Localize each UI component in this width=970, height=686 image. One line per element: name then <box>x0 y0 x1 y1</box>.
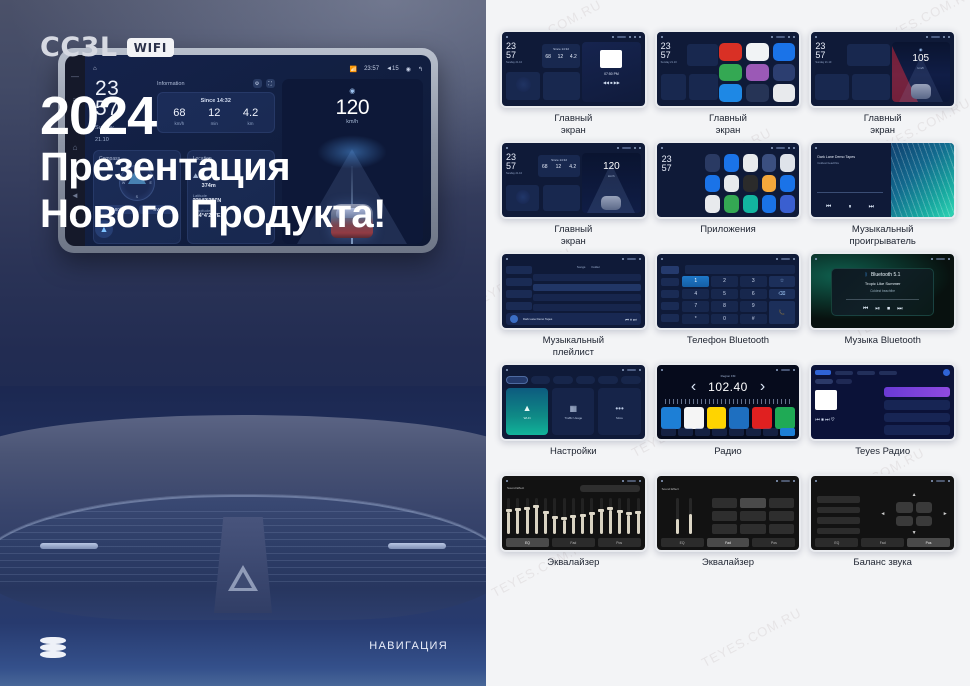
balance-preset-row[interactable] <box>817 528 860 535</box>
eq-band[interactable] <box>507 498 510 534</box>
side-key-minus[interactable]: — <box>71 73 79 81</box>
grid-item[interactable]: ᛒ Bluetooth 5.1 Tropic Like Summer Colde… <box>809 252 956 359</box>
balance-preset-row[interactable] <box>817 496 860 503</box>
mini-player[interactable]: Dark Lane Demo Tapes ⏮ ⏸ ⏭ <box>506 313 641 325</box>
eq-band[interactable] <box>572 498 575 534</box>
home-left-column: 2357 Sunday 21.10 Since 14:32 68124.2 <box>506 153 580 213</box>
information-header: Information ⚙ ⛶ <box>157 79 275 88</box>
settings-tab-security[interactable] <box>598 376 618 384</box>
settings-tab-sound[interactable] <box>531 376 551 384</box>
settings-card-label: Traffic Usage <box>564 416 582 420</box>
settings-tab-about[interactable] <box>621 376 641 384</box>
teyes-radio-player: ⏮ ⏹ ⏭ ♡ <box>815 379 883 435</box>
settings-card-wifi[interactable]: ▲ Wi-Fi <box>506 388 548 435</box>
eq-band[interactable] <box>526 498 529 534</box>
screenshot-grid-panel: TEYES.COM.RU TEYES.COM.RU TEYES.COM.RU T… <box>486 0 970 686</box>
bt-track: Tropic Like Summer <box>865 281 901 286</box>
settings-card-label: Wi-Fi <box>524 416 531 420</box>
settings-tab-system[interactable] <box>576 376 596 384</box>
grid-item[interactable]: 23 57 Sunday 21.10 Since 14:32 68124.2 <box>500 30 647 137</box>
thumbnail-radio[interactable]: Region FM ‹ 102.40 › <box>655 363 802 441</box>
teyes-radio-topbar[interactable] <box>815 369 950 376</box>
app-icon[interactable] <box>762 154 777 172</box>
thumbnail-caption: Музыка Bluetooth <box>844 335 920 359</box>
thumbnail-bt-music[interactable]: ᛒ Bluetooth 5.1 Tropic Like Summer Colde… <box>809 252 956 330</box>
thumbnail-caption: Баланс звука <box>853 557 912 581</box>
radio-list-row[interactable] <box>884 413 950 423</box>
toolbar-button[interactable] <box>712 428 727 436</box>
hero-year: 2024 <box>40 88 386 144</box>
home-left-column: 2357 Sunday 21.10 <box>815 42 889 102</box>
vent-knob-right <box>388 543 446 549</box>
bt-progress[interactable] <box>846 299 919 300</box>
app-icon[interactable] <box>773 64 796 82</box>
information-title: Information <box>157 81 185 87</box>
seat-front-left[interactable] <box>896 502 912 513</box>
status-time: 23:57 <box>364 66 379 72</box>
grid-item[interactable]: 2357 <box>655 141 802 248</box>
grid-item[interactable]: Sound Effect <box>500 474 647 581</box>
thumbnail-caption: Главныйэкран <box>554 113 592 137</box>
app-drawer-grid[interactable] <box>705 154 795 213</box>
bt-music-card: ᛒ Bluetooth 5.1 Tropic Like Summer Colde… <box>831 268 934 316</box>
thumbnail-home-media[interactable]: 23 57 Sunday 21.10 Since 14:32 68124.2 <box>500 30 647 108</box>
balance-up-icon[interactable]: ▲ <box>912 492 917 498</box>
toolbar-button[interactable] <box>661 428 676 436</box>
fader-slider[interactable] <box>676 498 679 534</box>
wifi-icon: 📶 <box>350 66 357 73</box>
preset-key[interactable] <box>712 524 738 534</box>
eq-tab[interactable]: Pos <box>907 538 950 547</box>
eq-band[interactable] <box>535 498 538 534</box>
home-left-column: 23 57 Sunday 21.10 Since 14:32 68124.2 <box>506 42 580 102</box>
home-app-grid[interactable] <box>719 43 795 102</box>
home-location-card <box>543 72 580 100</box>
progress-bar[interactable] <box>817 192 882 193</box>
dial-key[interactable]: 8 <box>711 301 738 312</box>
eq-tab[interactable]: Fad <box>552 538 595 547</box>
radio-presets[interactable] <box>661 407 796 429</box>
dial-key[interactable]: 9 <box>740 301 767 312</box>
playlist-row[interactable] <box>533 304 640 311</box>
hazard-button <box>214 517 272 613</box>
eq-tab-bar[interactable]: EQ Fad Pos <box>506 538 641 547</box>
thumbnail-caption: Эквалайзер <box>547 557 599 581</box>
app-icon[interactable] <box>773 43 796 61</box>
radio-preset[interactable] <box>729 407 749 429</box>
previous-icon[interactable]: ⏮ <box>863 306 868 313</box>
thumbnail-caption: Teyes Радио <box>855 446 910 470</box>
settings-icon[interactable]: ⚙ <box>253 79 262 88</box>
thumbnail-settings[interactable]: ▲ Wi-Fi ▦ Traffic Usage ••• More <box>500 363 647 441</box>
phone-number-field[interactable] <box>685 265 795 274</box>
radio-list-row[interactable] <box>884 387 950 397</box>
dial-key[interactable]: # <box>740 314 767 325</box>
radio-preset[interactable] <box>707 407 727 429</box>
dial-key[interactable]: 4 <box>682 289 709 300</box>
page-title: 2024 Презентация Нового Продукта! <box>40 88 386 237</box>
app-icon[interactable] <box>780 154 795 172</box>
vent-knob-left <box>40 543 98 549</box>
next-icon[interactable]: ⏭ <box>897 306 902 313</box>
preset-key[interactable] <box>769 511 795 521</box>
app-icon[interactable] <box>719 84 742 102</box>
grid-item[interactable]: 1 2 3 ☆ 4 5 6 ⌫ 7 8 9 📞 * 0 # <box>655 252 802 359</box>
thumbnail-caption: Главныйэкран <box>864 113 902 137</box>
grid-item[interactable]: Dark Lane Demo Tapes Coldest beachfire ⏮… <box>809 141 956 248</box>
thumbnail-caption: Главныйэкран <box>554 224 592 248</box>
settings-card-more[interactable]: ••• More <box>598 388 640 435</box>
thumbnail-home-drive[interactable]: 2357 Sunday 21.10 ◉ 105 km/h <box>809 30 956 108</box>
app-icon[interactable] <box>705 175 720 193</box>
app-icon[interactable] <box>719 43 742 61</box>
app-icon[interactable] <box>724 154 739 172</box>
music-track-info: Dark Lane Demo Tapes Coldest beachfire <box>817 155 885 165</box>
radio-preset[interactable] <box>684 407 704 429</box>
phone-tab-contacts[interactable] <box>661 278 680 286</box>
presentation-slide: CC3L WIFI 2024 Презентация Нового Продук… <box>0 0 970 686</box>
balance-preset-list[interactable] <box>817 496 860 534</box>
preset-key[interactable] <box>740 511 766 521</box>
dial-key[interactable]: 5 <box>711 289 738 300</box>
playlist-row[interactable] <box>533 284 640 291</box>
thumbnail-caption: Музыкальныйплейлист <box>543 335 604 359</box>
next-icon[interactable]: ⏭ <box>869 204 874 211</box>
brand-badge-wifi: WIFI <box>127 38 175 57</box>
dial-key[interactable]: 1 <box>682 276 709 287</box>
thumbnail-caption: Приложения <box>700 224 756 248</box>
favorite-icon[interactable]: ☆ <box>769 276 796 287</box>
radio-tuner[interactable]: ‹ 102.40 › <box>661 376 796 398</box>
eq-band[interactable] <box>516 498 519 534</box>
layers-icon <box>40 636 66 658</box>
eq-band[interactable] <box>600 498 603 534</box>
home-info-card: Since 14:32 68124.2 <box>542 44 580 68</box>
back-arrow-icon[interactable]: ↰ <box>418 66 423 73</box>
playlist-nav-item[interactable] <box>506 266 532 274</box>
seat-front-right[interactable] <box>916 502 932 513</box>
playback-controls[interactable]: ⏮ ⏸ ⏭ <box>817 204 882 211</box>
previous-icon[interactable]: ⏮ <box>826 204 831 211</box>
thumbnail-caption: Настройки <box>550 446 597 470</box>
thumbnail-bt-phone[interactable]: 1 2 3 ☆ 4 5 6 ⌫ 7 8 9 📞 * 0 # <box>655 252 802 330</box>
playlist-row[interactable] <box>533 274 640 281</box>
apps-clock: 2357 <box>662 155 672 172</box>
app-icon[interactable] <box>762 175 777 193</box>
status-bar: ⌂ 📶 23:57 ◄15 ◉ ↰ <box>93 63 423 75</box>
play-pause-icon[interactable]: ⏯ <box>875 306 880 313</box>
hero-panel: CC3L WIFI 2024 Презентация Нового Продук… <box>0 0 486 686</box>
app-icon[interactable] <box>746 43 769 61</box>
grid-item[interactable]: 23 57 Sunday 21.10 <box>655 30 802 137</box>
call-icon[interactable]: 📞 <box>769 301 796 324</box>
camera-icon[interactable]: ◉ <box>406 66 411 73</box>
phone-tab-dialpad[interactable] <box>661 266 680 274</box>
dial-key[interactable]: 3 <box>740 276 767 287</box>
eq-band[interactable] <box>618 498 621 534</box>
hazard-triangle-inner-icon <box>234 572 252 588</box>
eq-band[interactable] <box>581 498 584 534</box>
prev-station-icon[interactable]: ‹ <box>691 378 696 396</box>
dial-key[interactable]: 7 <box>682 301 709 312</box>
bt-artist: Coldest beachfire <box>870 289 895 293</box>
eq-band[interactable] <box>553 498 556 534</box>
app-icon[interactable] <box>746 84 769 102</box>
grid-item[interactable]: ▲ ▼ ◄ ► EQ Fad Pos Баланс звука <box>809 474 956 581</box>
app-icon[interactable] <box>719 64 742 82</box>
hero-title-line2: Нового Продукта! <box>40 191 386 237</box>
footer-navigation-label: НАВИГАЦИЯ <box>369 640 448 652</box>
grid-item[interactable]: 2357 Sunday 21.10 ◉ 105 km/h <box>809 30 956 137</box>
bt-title: Bluetooth 5.1 <box>871 272 900 278</box>
watermark: TEYES.COM.RU <box>699 605 804 670</box>
brand-name: CC3L <box>40 32 118 63</box>
phone-tab-search[interactable] <box>661 290 680 298</box>
tab-songs[interactable]: Songs <box>577 265 586 270</box>
radio-preset[interactable] <box>752 407 772 429</box>
settings-tab-wlan[interactable] <box>506 376 528 384</box>
dial-key[interactable]: 0 <box>711 314 738 325</box>
thumbnail-grid: 23 57 Sunday 21.10 Since 14:32 68124.2 <box>500 30 956 581</box>
settings-tab-display[interactable] <box>553 376 573 384</box>
toolbar-button[interactable] <box>780 428 795 436</box>
equalizer-bands[interactable] <box>507 498 640 534</box>
tab-folders[interactable]: Folder <box>591 265 600 270</box>
thumbnail-equalizer-fader[interactable]: Sound Effect <box>655 474 802 552</box>
eq-tab[interactable]: EQ <box>815 538 858 547</box>
settings-card-label: More <box>616 416 623 420</box>
playlist-nav-item[interactable] <box>506 278 532 286</box>
teyes-radio-list[interactable] <box>884 387 950 435</box>
toolbar-button[interactable] <box>729 428 744 436</box>
thumbnail-equalizer[interactable]: Sound Effect <box>500 474 647 552</box>
dial-key[interactable]: 2 <box>711 276 738 287</box>
app-icon[interactable] <box>743 195 758 213</box>
expand-icon[interactable]: ⛶ <box>266 79 275 88</box>
app-icon[interactable] <box>743 175 758 193</box>
home-compass-card <box>506 72 540 100</box>
eq-band[interactable] <box>627 498 630 534</box>
thumbnail-caption: Эквалайзер <box>702 557 754 581</box>
eq-band[interactable] <box>609 498 612 534</box>
thumbnail-caption: Телефон Bluetooth <box>687 335 769 359</box>
toolbar-button[interactable] <box>763 428 778 436</box>
eq-tab-bar[interactable]: EQ Fad Pos <box>815 538 950 547</box>
toolbar-button[interactable] <box>746 428 761 436</box>
next-station-icon[interactable]: › <box>760 378 765 396</box>
more-icon: ••• <box>615 404 623 413</box>
radio-preset[interactable] <box>661 407 681 429</box>
balance-pad[interactable]: ▲ ▼ ◄ ► <box>888 494 939 534</box>
stop-icon[interactable]: ⏹ <box>887 306 890 313</box>
playlist-row[interactable] <box>533 294 640 301</box>
eq-band[interactable] <box>544 498 547 534</box>
app-icon[interactable] <box>743 154 758 172</box>
hero-footer: НАВИГАЦИЯ <box>0 616 486 686</box>
toolbar-button[interactable] <box>695 428 710 436</box>
playlist-nav-item[interactable] <box>506 302 532 310</box>
eq-tab[interactable]: Pos <box>752 538 795 547</box>
bluetooth-icon: ᛒ <box>865 272 868 278</box>
hero-title-line1: Презентация <box>40 144 386 190</box>
app-icon[interactable] <box>705 195 720 213</box>
preset-key[interactable] <box>769 498 795 508</box>
music-visual-wave <box>891 143 954 217</box>
chart-icon: ▦ <box>570 404 578 413</box>
thumbnail-apps[interactable]: 2357 <box>655 141 802 219</box>
eq-band[interactable] <box>563 498 566 534</box>
wifi-icon: ▲ <box>523 403 532 413</box>
balance-left-icon[interactable]: ◄ <box>880 511 885 517</box>
grid-item[interactable]: Region FM ‹ 102.40 › <box>655 363 802 470</box>
home-media-card: 07:50 PM ◀◀ ■ ▶▶ <box>582 42 640 102</box>
preset-key[interactable] <box>740 524 766 534</box>
sound-preset-keys[interactable] <box>712 498 795 534</box>
fader-slider[interactable] <box>689 498 692 534</box>
grid-item[interactable]: Sound Effect <box>655 474 802 581</box>
home-icon[interactable]: ⌂ <box>93 66 97 72</box>
thumbnail-home-apps[interactable]: 23 57 Sunday 21.10 <box>655 30 802 108</box>
thumbnail-caption: Музыкальныйпроигрыватель <box>850 224 916 248</box>
grid-item[interactable]: 2357 Sunday 21.10 Since 14:32 68124.2 <box>500 141 647 248</box>
eq-tab[interactable]: Pos <box>598 538 641 547</box>
eq-band[interactable] <box>637 498 640 534</box>
settings-card-traffic[interactable]: ▦ Traffic Usage <box>552 388 594 435</box>
drive-speed: 105 <box>912 53 929 64</box>
app-icon[interactable] <box>724 195 739 213</box>
thumbnail-caption: Радио <box>714 446 741 470</box>
settings-tabs[interactable] <box>506 376 641 384</box>
thumbnail-sound-balance[interactable]: ▲ ▼ ◄ ► EQ Fad Pos <box>809 474 956 552</box>
thumbnail-teyes-radio[interactable]: ⏮ ⏹ ⏭ ♡ <box>809 363 956 441</box>
dial-key[interactable]: * <box>682 314 709 325</box>
radio-frequency-scale[interactable] <box>665 399 791 404</box>
preset-key[interactable] <box>712 498 738 508</box>
settings-cards[interactable]: ▲ Wi-Fi ▦ Traffic Usage ••• More <box>506 388 641 435</box>
phone-tab-settings[interactable] <box>661 314 680 322</box>
volume-indicator: ◄15 <box>386 66 399 72</box>
seat-rear-left[interactable] <box>896 516 912 527</box>
brand-logo: CC3L WIFI <box>40 32 174 63</box>
dialpad[interactable]: 1 2 3 ☆ 4 5 6 ⌫ 7 8 9 📞 * 0 # <box>682 276 795 324</box>
eq-tab[interactable]: EQ <box>661 538 704 547</box>
bt-controls[interactable]: ⏮ ⏯ ⏹ ⏭ <box>863 306 903 313</box>
app-icon[interactable] <box>780 175 795 193</box>
preset-key[interactable] <box>769 524 795 534</box>
nav-speed: 120 <box>603 161 620 172</box>
radio-list-row[interactable] <box>884 400 950 410</box>
grid-item[interactable]: ▲ Wi-Fi ▦ Traffic Usage ••• More Наст <box>500 363 647 470</box>
eq-tab[interactable]: Fad <box>861 538 904 547</box>
thumbnail-playlist[interactable]: SongsFolder Dark Lane Demo Tapes ⏮ ⏸ ⏭ <box>500 252 647 330</box>
home-left-column: 23 57 Sunday 21.10 <box>661 42 718 102</box>
eq-tab[interactable]: EQ <box>506 538 549 547</box>
eq-band[interactable] <box>590 498 593 534</box>
radio-toolbar[interactable] <box>661 428 796 436</box>
preset-key[interactable] <box>740 498 766 508</box>
grid-item[interactable]: SongsFolder Dark Lane Demo Tapes ⏮ ⏸ ⏭ М… <box>500 252 647 359</box>
radio-frequency: 102.40 <box>708 380 748 394</box>
eq-tab-bar[interactable]: EQ Fad Pos <box>661 538 796 547</box>
grid-item[interactable]: ⏮ ⏹ ⏭ ♡ Teyes Радио <box>809 363 956 470</box>
app-icon[interactable] <box>773 84 796 102</box>
playlist-nav-item[interactable] <box>506 290 532 298</box>
track-title: Dark Lane Demo Tapes <box>817 155 885 159</box>
balance-preset-row[interactable] <box>817 507 860 514</box>
air-vent <box>0 495 486 620</box>
balance-preset-row[interactable] <box>817 517 860 524</box>
app-icon[interactable] <box>705 154 720 172</box>
app-icon[interactable] <box>724 175 739 193</box>
nav-view: 120 km/h <box>582 153 640 213</box>
app-icon[interactable] <box>762 195 777 213</box>
app-icon[interactable] <box>746 64 769 82</box>
seat-rear-right[interactable] <box>916 516 932 527</box>
drive-view: ◉ 105 km/h <box>892 42 950 102</box>
app-icon[interactable] <box>780 195 795 213</box>
dial-key[interactable]: 6 <box>740 289 767 300</box>
backspace-icon[interactable]: ⌫ <box>769 289 796 300</box>
fader-sliders[interactable] <box>668 498 699 534</box>
pause-icon[interactable]: ⏸ <box>848 204 851 211</box>
toolbar-button[interactable] <box>678 428 693 436</box>
thumbnail-music-player[interactable]: Dark Lane Demo Tapes Coldest beachfire ⏮… <box>809 141 956 219</box>
preset-key[interactable] <box>712 511 738 521</box>
balance-down-icon[interactable]: ▼ <box>912 530 917 536</box>
radio-preset[interactable] <box>775 407 795 429</box>
eq-tab[interactable]: Fad <box>707 538 750 547</box>
radio-list-row[interactable] <box>884 425 950 435</box>
thumbnail-home-nav[interactable]: 2357 Sunday 21.10 Since 14:32 68124.2 <box>500 141 647 219</box>
phone-tab-recents[interactable] <box>661 302 680 310</box>
balance-right-icon[interactable]: ► <box>943 511 948 517</box>
thumbnail-caption: Главныйэкран <box>709 113 747 137</box>
